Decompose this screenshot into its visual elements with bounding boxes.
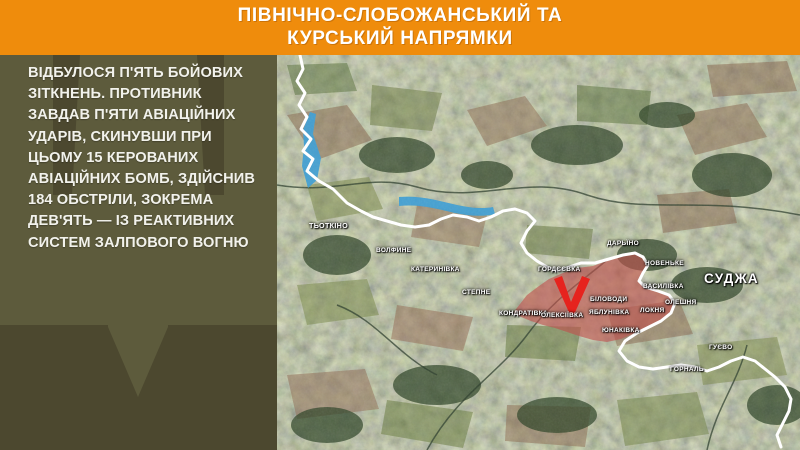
summary-panel: ВІДБУЛОСЯ П'ЯТЬ БОЙОВИХ ЗІТКНЕНЬ. ПРОТИВ… [0,55,277,450]
page-title: ПІВНІЧНО-СЛОБОЖАНСЬКИЙ ТА КУРСЬКИЙ НАПРЯ… [0,5,800,50]
state-border-line [297,55,791,447]
header-banner: ПІВНІЧНО-СЛОБОЖАНСЬКИЙ ТА КУРСЬКИЙ НАПРЯ… [0,0,800,55]
map-area[interactable]: ТЬОТКІНОВОЛФИНЕКАТЕРИНІВКАСТЕПНЕКОНДРАТІ… [277,55,800,450]
controlled-zone [513,254,675,342]
map-overlay [277,55,800,450]
summary-text: ВІДБУЛОСЯ П'ЯТЬ БОЙОВИХ ЗІТКНЕНЬ. ПРОТИВ… [28,63,256,254]
infographic-root: ПІВНІЧНО-СЛОБОЖАНСЬКИЙ ТА КУРСЬКИЙ НАПРЯ… [0,0,800,450]
